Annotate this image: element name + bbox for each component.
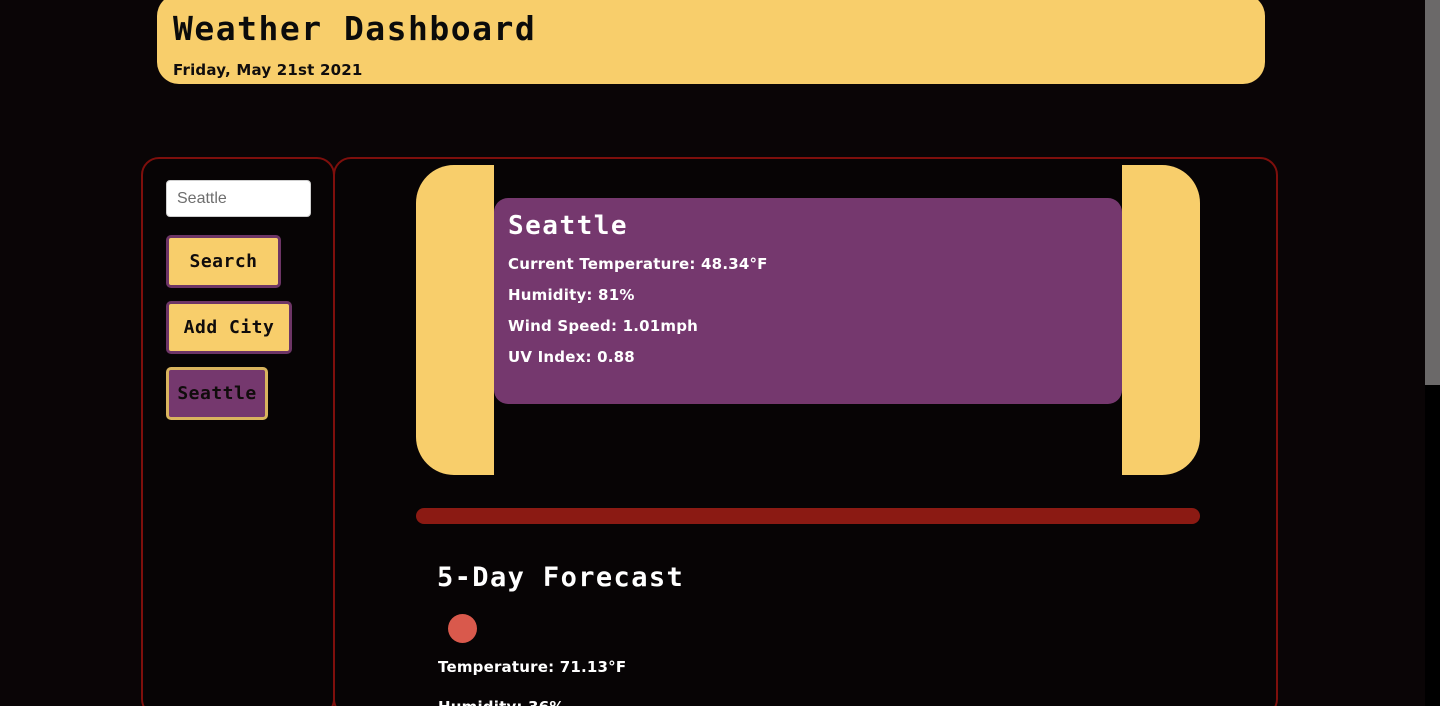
decorative-slab-right <box>1122 165 1200 475</box>
current-uv-index: UV Index: 0.88 <box>508 348 1122 366</box>
page-viewport: Weather Dashboard Friday, May 21st 2021 … <box>0 0 1425 706</box>
page-title: Weather Dashboard <box>173 8 1265 49</box>
decorative-slab-left <box>416 165 494 475</box>
page-scrollbar-track[interactable] <box>1425 0 1440 706</box>
add-city-button[interactable]: Add City <box>166 301 292 354</box>
sidebar-panel: Search Add City Seattle <box>141 157 335 706</box>
main-panel: Seattle Current Temperature: 48.34°F Hum… <box>333 157 1278 706</box>
current-city-name: Seattle <box>508 211 1122 242</box>
current-weather-card: Seattle Current Temperature: 48.34°F Hum… <box>494 198 1122 404</box>
sidebar-item-seattle[interactable]: Seattle <box>166 367 268 420</box>
weather-condition-icon <box>448 614 477 643</box>
forecast-humidity: Humidity: 36% <box>438 698 565 706</box>
page-scrollbar-thumb[interactable] <box>1425 0 1440 385</box>
current-temperature: Current Temperature: 48.34°F <box>508 255 1122 273</box>
forecast-temperature: Temperature: 71.13°F <box>438 658 626 676</box>
current-date: Friday, May 21st 2021 <box>173 61 1265 79</box>
section-divider <box>416 508 1200 524</box>
forecast-heading: 5-Day Forecast <box>437 562 684 593</box>
search-input[interactable] <box>166 180 311 217</box>
header-banner: Weather Dashboard Friday, May 21st 2021 <box>157 0 1265 84</box>
current-wind-speed: Wind Speed: 1.01mph <box>508 317 1122 335</box>
current-humidity: Humidity: 81% <box>508 286 1122 304</box>
search-button[interactable]: Search <box>166 235 281 288</box>
